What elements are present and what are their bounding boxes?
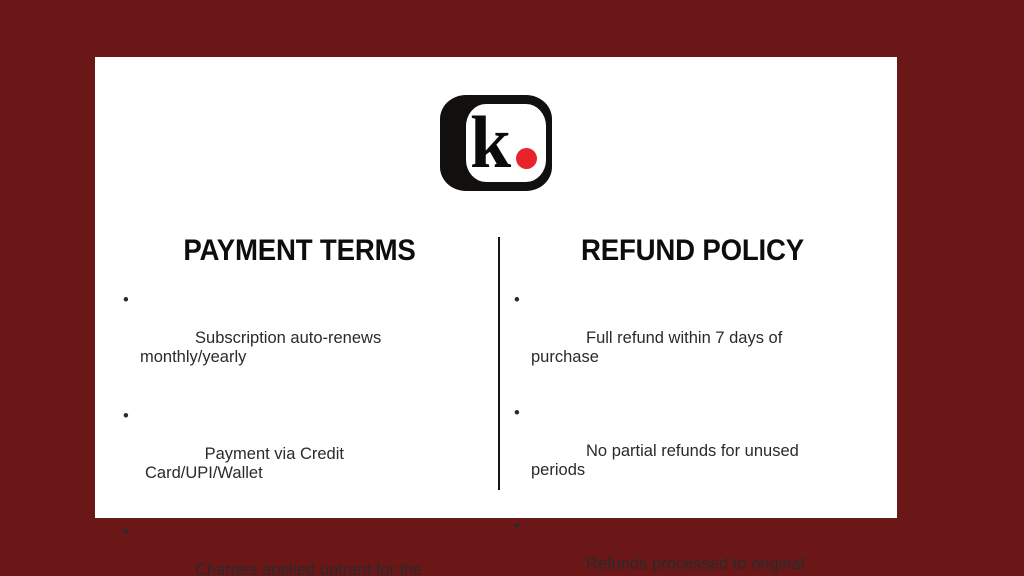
bullet-list-refund-policy: • Full refund within 7 days of purchase … xyxy=(514,291,834,576)
heading-payment-terms: PAYMENT TERMS xyxy=(124,233,475,269)
columns-wrapper: PAYMENT TERMS • Subscription auto-renews… xyxy=(95,233,897,493)
k-logo: k xyxy=(440,95,552,191)
slide-canvas: k PAYMENT TERMS • Subscription auto-rene… xyxy=(0,0,1024,576)
list-item: • Charges applied uptrant for the period xyxy=(123,523,435,576)
bullet-list-payment-terms: • Subscription auto-renews monthly/yearl… xyxy=(123,291,435,576)
list-item: • Full refund within 7 days of purchase xyxy=(514,291,834,386)
list-item-text: Payment via Credit Card/UPI/Wallet xyxy=(145,445,349,482)
list-item: • No partial refunds for unused periods xyxy=(514,404,834,499)
list-item-text: Refunds processed to original payment me… xyxy=(531,555,809,576)
list-item-text: Subscription auto-renews monthly/yearly xyxy=(140,329,386,366)
column-divider xyxy=(498,237,500,490)
bullet-dot-icon: • xyxy=(514,291,520,310)
list-item: • Refunds processed to original payment … xyxy=(514,517,834,576)
bullet-dot-icon: • xyxy=(514,404,520,423)
list-item-text: Full refund within 7 days of purchase xyxy=(531,329,787,366)
heading-refund-policy: REFUND POLICY xyxy=(510,233,875,269)
logo-letter: k xyxy=(470,98,530,188)
column-refund-policy: REFUND POLICY • Full refund within 7 day… xyxy=(496,233,897,493)
bullet-dot-icon: • xyxy=(123,407,129,426)
list-item: • Payment via Credit Card/UPI/Wallet xyxy=(123,407,435,502)
bullet-dot-icon: • xyxy=(123,291,129,310)
list-item-text: Charges applied uptrant for the period xyxy=(140,561,427,576)
bullet-dot-icon: • xyxy=(123,523,129,542)
list-item-text: No partial refunds for unused periods xyxy=(531,442,803,479)
logo-container: k xyxy=(95,95,897,191)
column-payment-terms: PAYMENT TERMS • Subscription auto-renews… xyxy=(95,233,496,493)
logo-red-dot-icon xyxy=(516,148,537,169)
list-item: • Subscription auto-renews monthly/yearl… xyxy=(123,291,435,386)
bullet-dot-icon: • xyxy=(514,517,520,536)
content-card: k PAYMENT TERMS • Subscription auto-rene… xyxy=(95,57,897,518)
